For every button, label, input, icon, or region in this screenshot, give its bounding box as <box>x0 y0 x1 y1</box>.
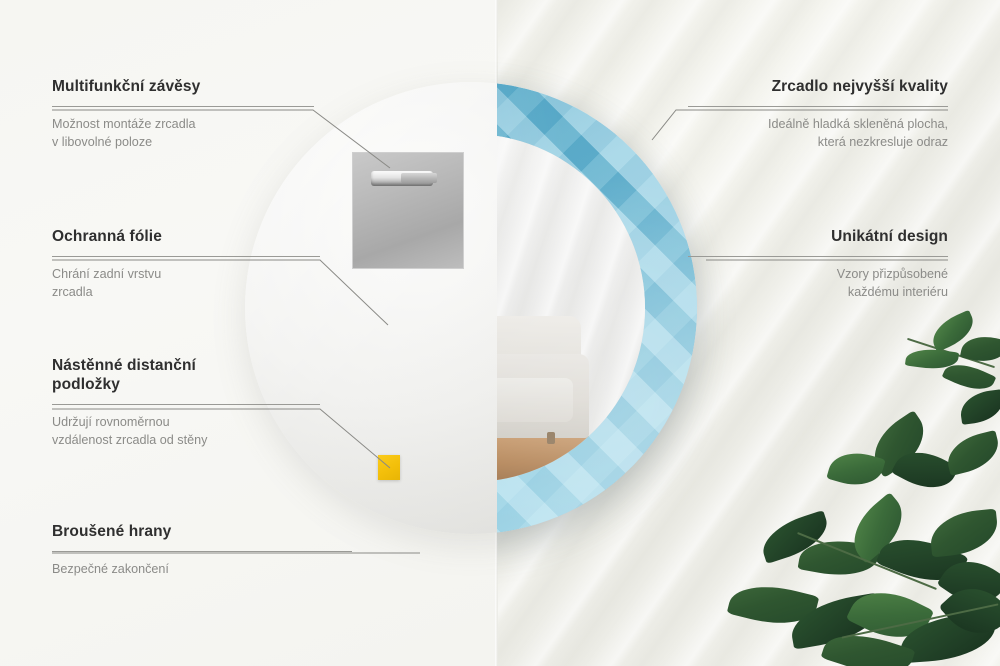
callout-rule <box>688 256 948 257</box>
callout-body: Bezpečné zakončení <box>52 561 352 579</box>
callout-body: Chrání zadní vrstvu zrcadla <box>52 266 320 302</box>
callout-body-line: v libovolné poloze <box>52 134 314 152</box>
callout-zrcadlo-nejvyssi-kvality: Zrcadlo nejvyšší kvality Ideálně hladká … <box>688 78 948 152</box>
callout-rule <box>52 256 320 257</box>
infographic-canvas: Multifunkční závěsy Možnost montáže zrca… <box>0 0 1000 666</box>
callout-body: Vzory přizpůsobené každému interiéru <box>688 266 948 302</box>
callout-body: Udržují rovnoměrnou vzdálenost zrcadla o… <box>52 414 320 450</box>
callout-body: Ideálně hladká skleněná plocha, která ne… <box>688 116 948 152</box>
callout-body-line: Možnost montáže zrcadla <box>52 116 314 134</box>
callout-multifunkcni-zavesy: Multifunkční závěsy Možnost montáže zrca… <box>52 78 314 152</box>
callout-body-line: která nezkresluje odraz <box>688 134 948 152</box>
callout-title-line: Nástěnné distanční <box>52 357 320 376</box>
callout-rule <box>52 106 314 107</box>
callout-title: Multifunkční závěsy <box>52 78 314 97</box>
callout-body-line: Ideálně hladká skleněná plocha, <box>688 116 948 134</box>
callout-body-line: Chrání zadní vrstvu <box>52 266 320 284</box>
callout-body-line: Vzory přizpůsobené <box>688 266 948 284</box>
callout-rule <box>688 106 948 107</box>
callout-body-line: Bezpečné zakončení <box>52 561 352 579</box>
callout-rule <box>52 551 352 552</box>
callout-unikatni-design: Unikátní design Vzory přizpůsobené každé… <box>688 228 948 302</box>
callout-body-line: zrcadla <box>52 284 320 302</box>
callout-title: Zrcadlo nejvyšší kvality <box>688 78 948 97</box>
callout-nastenne-distancni-podlozky: Nástěnné distanční podložky Udržují rovn… <box>52 357 320 450</box>
callout-body-line: vzdálenost zrcadla od stěny <box>52 432 320 450</box>
callout-brousene-hrany: Broušené hrany Bezpečné zakončení <box>52 523 352 579</box>
callout-title: Nástěnné distanční podložky <box>52 357 320 395</box>
callout-body-line: Udržují rovnoměrnou <box>52 414 320 432</box>
callout-title: Unikátní design <box>688 228 948 247</box>
callout-ochranna-folie: Ochranná fólie Chrání zadní vrstvu zrcad… <box>52 228 320 302</box>
callout-body: Možnost montáže zrcadla v libovolné polo… <box>52 116 314 152</box>
callout-title: Ochranná fólie <box>52 228 320 247</box>
callout-title-line: podložky <box>52 376 320 395</box>
callout-rule <box>52 404 320 405</box>
callout-body-line: každému interiéru <box>688 284 948 302</box>
callout-title: Broušené hrany <box>52 523 352 542</box>
